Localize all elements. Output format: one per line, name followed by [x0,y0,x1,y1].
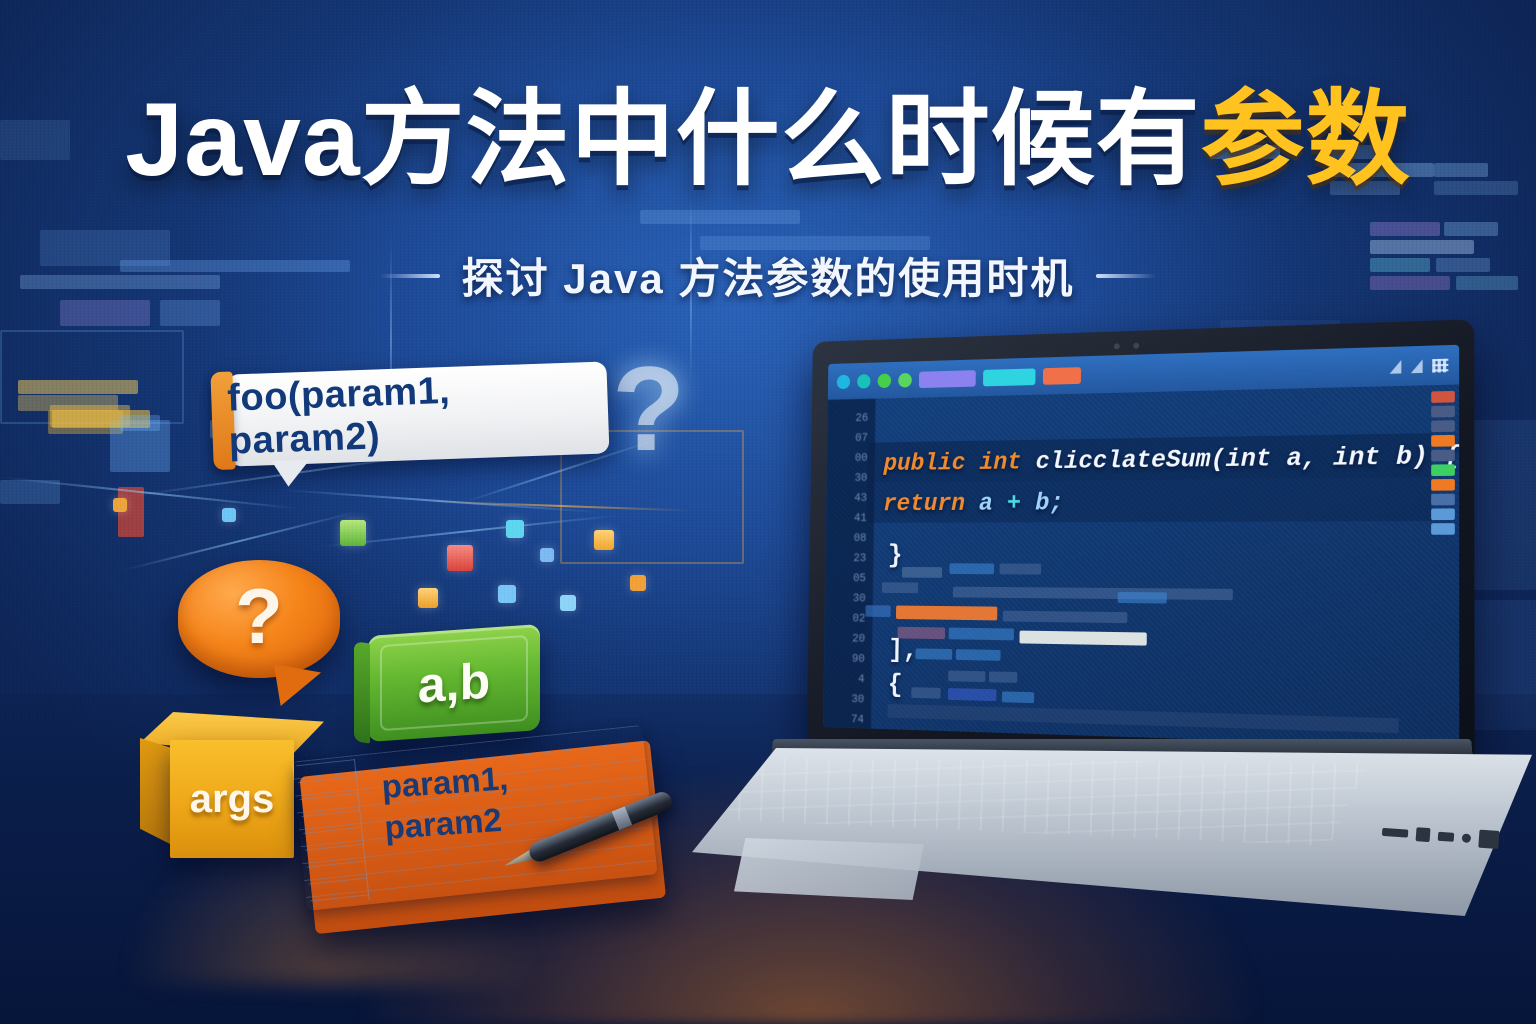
line-number: 90 [824,649,865,670]
line-number: 41 [826,508,867,528]
ghost-question-mark-icon: ? [612,340,685,478]
code-token [1021,448,1035,477]
minimap-marker[interactable] [1431,523,1455,535]
minimap-marker[interactable] [1431,464,1455,476]
line-number: 26 [827,408,868,429]
minimap-marker[interactable] [1431,420,1455,432]
toolbar-tab-3[interactable] [1043,367,1081,385]
subtitle-dash-right [1096,274,1156,278]
green-box-inner: a,b [380,635,528,731]
green-box-label: a,b [418,651,490,714]
minimap-marker[interactable] [1431,450,1455,462]
line-number: 43 [826,488,867,508]
code-line-2: return a + b; [883,479,1431,524]
subtitle-row: 探讨 Java 方法参数的使用时机 [0,245,1536,306]
laptop-screen: 260700304341082305300220904307470400 pub… [823,345,1459,748]
code-token: int [979,448,1021,477]
code-token [965,489,979,517]
line-number: 23 [825,549,866,569]
code-brace-open: { [888,671,903,700]
code-minimap[interactable] [1431,391,1455,741]
port-usb-1 [1416,827,1431,842]
line-number: 30 [826,468,867,488]
minimap-marker[interactable] [1431,508,1455,520]
line-number: 20 [824,629,865,650]
line-number: 74 [823,709,864,730]
question-balloon: ? [178,560,340,678]
code-token: clicclateSum(int a, int b) { [1035,441,1459,476]
toolbar-tab-2[interactable] [983,368,1035,386]
question-mark-icon: ? [178,560,340,678]
line-number: 4 [823,669,864,690]
minimap-marker[interactable] [1431,406,1455,418]
line-number: 08 [826,529,867,549]
sensor-icon [1133,343,1139,349]
laptop-lid: 260700304341082305300220904307470400 pub… [807,319,1475,763]
line-number: 00 [827,448,868,469]
webcam-icon [1114,343,1120,349]
poster-canvas: Java方法中什么时候有参数 探讨 Java 方法参数的使用时机 ? foo(p… [0,0,1536,1024]
line-number: 05 [825,569,866,589]
toolbar-dot-4[interactable] [898,372,912,387]
page-title: Java方法中什么时候有参数 [0,86,1536,195]
line-number: 02 [824,609,865,630]
title-main-text: Java方法中什么时候有 [125,82,1200,198]
code-token: + [993,489,1036,518]
signal-icon-1 [1390,359,1402,373]
line-number: 30 [825,589,866,609]
params-box-green: a,b [368,624,540,742]
laptop-trackpad[interactable] [734,838,924,900]
toolbar-dot-2[interactable] [857,374,871,389]
code-token: a [979,489,993,517]
toolbar-dot-1[interactable] [837,374,850,389]
grid-icon[interactable] [1432,358,1448,372]
toolbar-dot-3[interactable] [878,373,892,388]
minimap-marker[interactable] [1431,435,1455,447]
code-token: public [883,449,965,478]
method-signature-callout: foo(param1, param2) [227,361,610,466]
laptop-ports [1381,812,1503,860]
laptop: 260700304341082305300220904307470400 pub… [676,330,1476,930]
minimap-marker[interactable] [1431,391,1455,403]
code-token: b; [1035,489,1064,518]
cube-label: args [170,740,294,858]
line-number: 07 [827,428,868,449]
title-accent-text: 参数 [1201,82,1411,198]
cube-left-face [140,738,174,846]
port-usb-2 [1438,831,1455,841]
method-signature-text: foo(param1, param2) [227,361,610,466]
code-line-1: public int clicclateSum(int a, int b) { [883,435,1431,484]
port-sd [1382,828,1408,838]
signal-icon-2 [1411,359,1423,373]
line-number: 30 [823,689,864,710]
subtitle-dash-left [380,274,440,278]
code-editor-area[interactable]: public int clicclateSum(int a, int b) { … [864,385,1431,747]
code-token: return [883,489,965,517]
code-brace-mid: ], [888,636,918,666]
subtitle-text: 探讨 Java 方法参数的使用时机 [462,245,1075,306]
port-hdmi [1478,830,1499,849]
notepad-spiral-binding [296,759,370,906]
minimap-marker[interactable] [1431,494,1455,506]
code-brace-close: } [888,542,903,571]
green-box-side [354,641,370,743]
code-token [965,449,979,477]
toolbar-tab-1[interactable] [919,370,976,388]
minimap-marker[interactable] [1431,479,1455,491]
port-jack [1462,833,1472,843]
